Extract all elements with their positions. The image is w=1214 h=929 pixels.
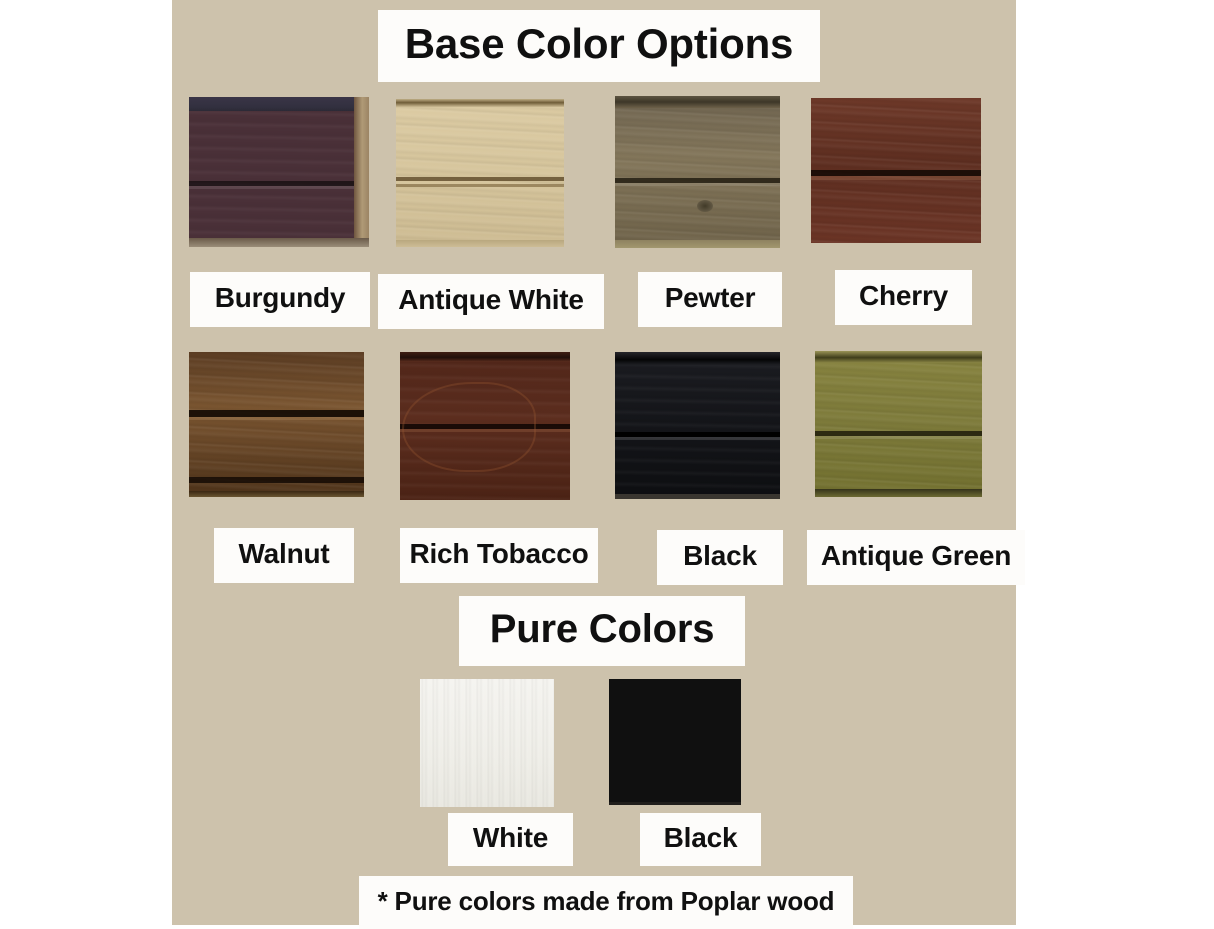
bottom-edge [189,491,364,497]
swatch-face [609,679,741,805]
top-rail [400,352,570,362]
wood-knot [697,200,713,212]
swatch-label-walnut: Walnut [214,528,354,583]
side-edge [354,97,369,247]
center-groove [396,177,564,181]
top-rail [189,97,369,111]
top-rail [615,96,780,108]
swatch-label-burgundy: Burgundy [190,272,370,327]
swatch-label-black-pure: Black [640,813,761,866]
swatch-walnut[interactable] [189,352,364,497]
swatch-label-white: White [448,813,573,866]
swatch-burgundy[interactable] [189,97,369,247]
wood-grain-overlay [420,679,554,807]
center-groove [189,410,364,417]
center-groove-highlight [615,437,780,440]
top-rail [615,352,780,365]
wood-grain-overlay [815,351,982,497]
center-groove-highlight [615,183,780,186]
wood-cathedral-grain [402,382,536,472]
swatch-rich-tobacco[interactable] [400,352,570,500]
page-title: Base Color Options [378,10,820,82]
swatch-antique-white[interactable] [396,99,564,247]
swatch-white[interactable] [420,679,554,807]
top-rail [396,99,564,107]
center-groove-highlight [811,176,981,180]
swatch-label-pewter: Pewter [638,272,782,327]
swatch-label-black-base: Black [657,530,783,585]
center-groove-secondary [396,184,564,187]
swatch-black-pure[interactable] [609,679,741,805]
color-options-poster: Base Color Options [0,0,1214,925]
swatch-label-antique-green: Antique Green [807,530,1025,585]
swatch-label-rich-tobacco: Rich Tobacco [400,528,598,583]
swatch-pewter[interactable] [615,96,780,248]
swatch-black-base[interactable] [615,352,780,499]
wood-grain-overlay [189,352,364,497]
bottom-edge [396,240,564,247]
bottom-edge [189,238,369,247]
poster-panel: Base Color Options [172,0,1016,925]
wood-grain-overlay [615,96,780,248]
wood-grain-overlay [396,99,564,247]
center-groove-highlight [189,417,364,420]
swatch-label-antique-white: Antique White [378,274,604,329]
bottom-edge [615,240,780,248]
bottom-edge [615,494,780,499]
section-title-pure-colors: Pure Colors [459,596,745,666]
swatch-antique-green[interactable] [815,351,982,497]
wood-grain-overlay [189,97,369,247]
swatch-label-cherry: Cherry [835,270,972,325]
bottom-edge [609,802,741,805]
lower-groove [189,477,364,483]
wood-grain-overlay [615,352,780,499]
swatch-cherry[interactable] [811,98,981,243]
top-rail [815,351,982,363]
footnote: * Pure colors made from Poplar wood [359,876,853,929]
bottom-edge [815,489,982,497]
center-groove-highlight [815,436,982,439]
center-groove-highlight [189,186,369,189]
